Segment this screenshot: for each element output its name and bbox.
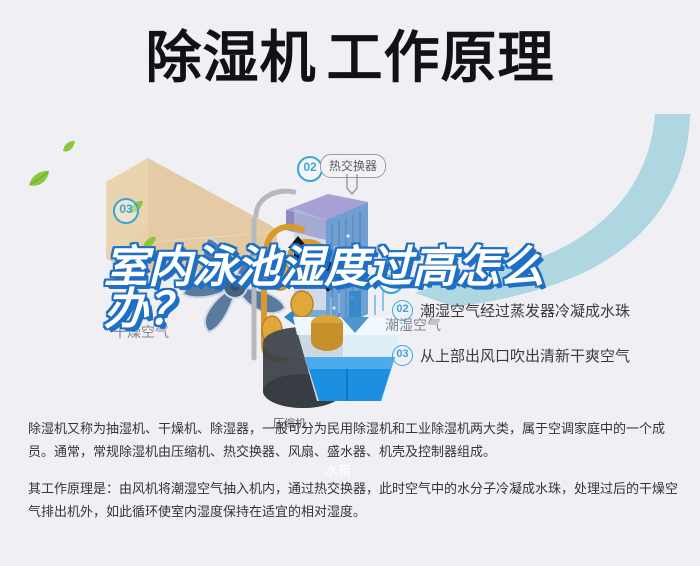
legend-label: 从上部出风口吹出清新干爽空气	[420, 345, 630, 366]
body-paragraph-2: 其工作原理是：由风机将潮湿空气抽入机内，通过热交换器，此时空气中的水分子冷凝成水…	[28, 478, 678, 524]
legend-badge: 03	[392, 345, 413, 366]
page-title-part2: 工作原理	[327, 26, 555, 91]
leaf-icon	[62, 140, 76, 153]
diagram-badge-03: 03	[113, 198, 139, 224]
callout-pointer-icon	[345, 174, 359, 196]
leaf-icon	[28, 170, 50, 188]
legend-badge: 02	[392, 300, 413, 321]
legend: 02 潮湿空气经过蒸发器冷凝成水珠 03 从上部出风口吹出清新干爽空气	[392, 300, 692, 390]
page-title-part1: 除湿机	[146, 26, 317, 91]
legend-label: 潮湿空气经过蒸发器冷凝成水珠	[420, 300, 630, 321]
legend-item: 02 潮湿空气经过蒸发器冷凝成水珠	[392, 300, 692, 321]
diagram-badge-02: 02	[297, 156, 323, 182]
body-paragraph-1: 除湿机又称为抽湿机、干燥机、除湿器，一般可分为民用除湿机和工业除湿机两大类，属于…	[28, 418, 678, 464]
body-copy: 除湿机又称为抽湿机、干燥机、除湿器，一般可分为民用除湿机和工业除湿机两大类，属于…	[28, 418, 678, 538]
infographic-page: 除湿机工作原理	[0, 0, 700, 566]
legend-item: 03 从上部出风口吹出清新干爽空气	[392, 345, 692, 366]
page-title: 除湿机工作原理	[0, 28, 700, 91]
